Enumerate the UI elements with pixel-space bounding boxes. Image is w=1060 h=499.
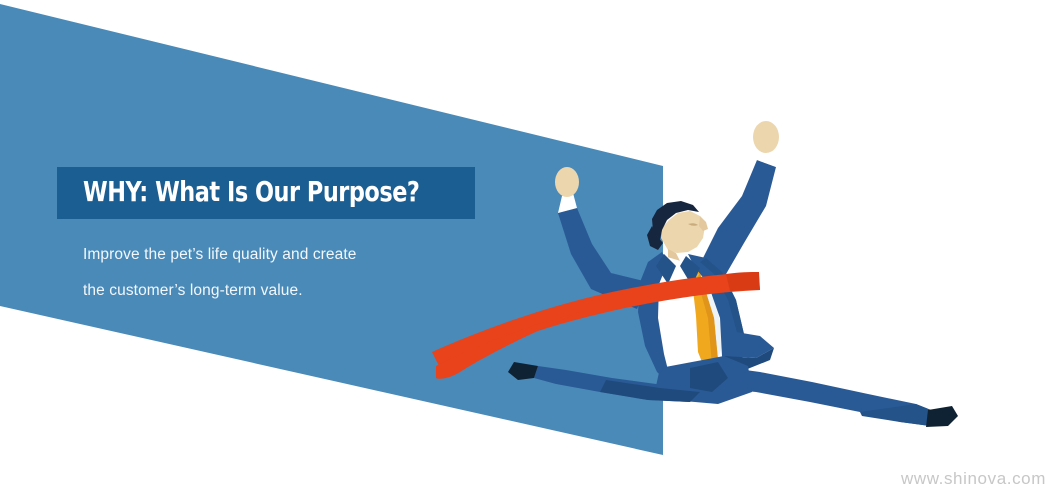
black-dress-shoe-left (508, 362, 538, 380)
site-watermark: www.shinova.com (901, 469, 1046, 489)
ribbon-tip-shade (726, 272, 760, 291)
raised-left-fist (555, 167, 579, 197)
raised-right-fist (753, 121, 779, 153)
raised-right-arm (698, 121, 779, 281)
head-group (647, 201, 708, 261)
black-dress-shoe-right (926, 406, 958, 427)
jumping-businessman-illustration (0, 0, 1060, 499)
slide-canvas: WHY: What Is Our Purpose? Improve the pe… (0, 0, 1060, 499)
